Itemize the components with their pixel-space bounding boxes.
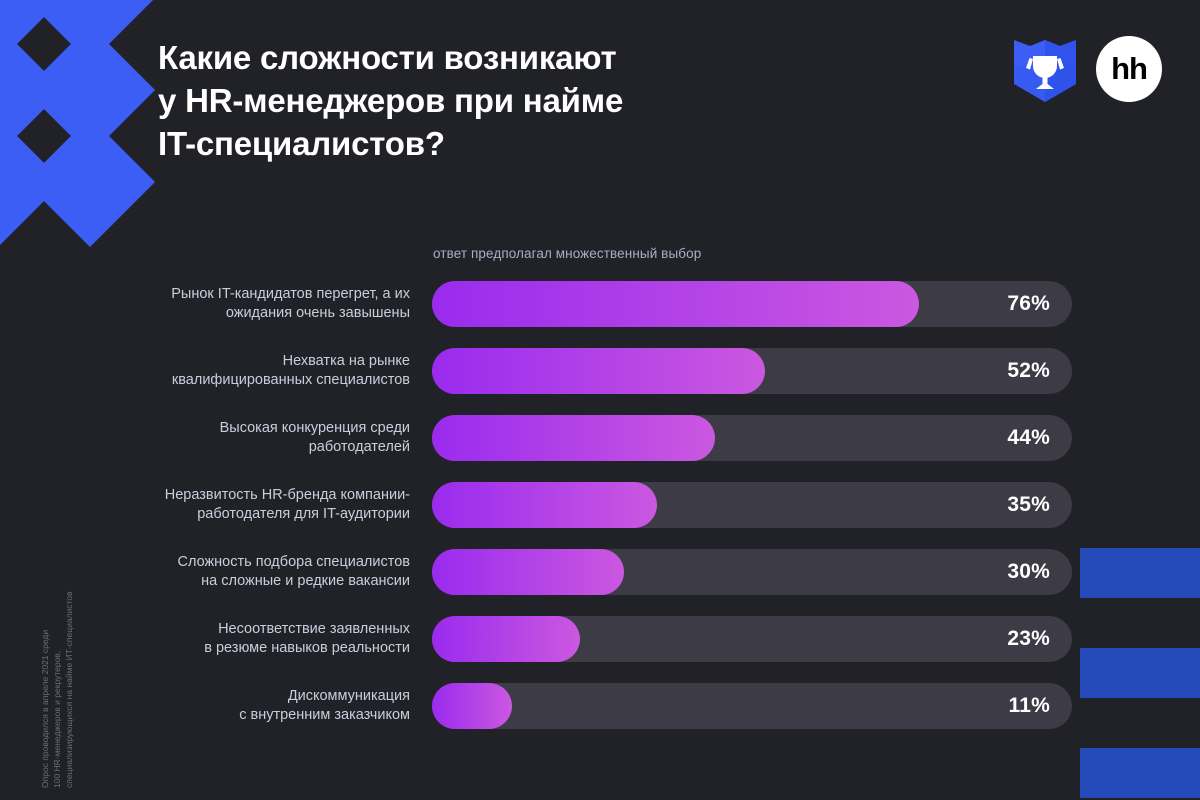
decorative-edge-block bbox=[1080, 748, 1200, 798]
trophy-shield-icon bbox=[1014, 36, 1076, 102]
bar-label: Неразвитость HR-бренда компании- работод… bbox=[110, 486, 410, 524]
chart-row: Рынок IT-кандидатов перегрет, а их ожида… bbox=[0, 281, 1200, 327]
bar-track: 11% bbox=[432, 683, 1072, 729]
page-title: Какие сложности возникают у HR-менеджеро… bbox=[158, 36, 818, 165]
bar-value-label: 44% bbox=[1007, 415, 1050, 461]
bar-fill bbox=[432, 683, 512, 729]
chart-subtitle: ответ предполагал множественный выбор bbox=[433, 246, 701, 261]
chart-row: Неразвитость HR-бренда компании- работод… bbox=[0, 482, 1200, 528]
bar-chart: Рынок IT-кандидатов перегрет, а их ожида… bbox=[0, 281, 1200, 750]
hh-logo-text: hh bbox=[1111, 53, 1147, 84]
bar-label: Рынок IT-кандидатов перегрет, а их ожида… bbox=[110, 285, 410, 323]
chart-row: Несоответствие заявленных в резюме навык… bbox=[0, 616, 1200, 662]
infographic-canvas: Какие сложности возникают у HR-менеджеро… bbox=[0, 0, 1200, 800]
chart-row: Сложность подбора специалистов на сложны… bbox=[0, 549, 1200, 595]
bar-track: 52% bbox=[432, 348, 1072, 394]
bar-label: Высокая конкуренция среди работодателей bbox=[110, 419, 410, 457]
chart-row: Нехватка на рынке квалифицированных спец… bbox=[0, 348, 1200, 394]
bar-fill bbox=[432, 482, 657, 528]
hh-logo: hh bbox=[1096, 36, 1162, 102]
bar-label: Сложность подбора специалистов на сложны… bbox=[110, 553, 410, 591]
bar-fill bbox=[432, 415, 715, 461]
chart-row: Высокая конкуренция среди работодателей4… bbox=[0, 415, 1200, 461]
bar-value-label: 52% bbox=[1007, 348, 1050, 394]
bar-fill bbox=[432, 348, 765, 394]
bar-value-label: 76% bbox=[1007, 281, 1050, 327]
bar-label: Дискоммуникация с внутренним заказчиком bbox=[110, 687, 410, 725]
bar-value-label: 30% bbox=[1007, 549, 1050, 595]
bar-track: 44% bbox=[432, 415, 1072, 461]
bar-track: 30% bbox=[432, 549, 1072, 595]
bar-fill bbox=[432, 281, 919, 327]
bar-track: 76% bbox=[432, 281, 1072, 327]
bar-value-label: 35% bbox=[1007, 482, 1050, 528]
bar-label: Нехватка на рынке квалифицированных спец… bbox=[110, 352, 410, 390]
bar-value-label: 11% bbox=[1009, 683, 1050, 729]
bar-fill bbox=[432, 549, 624, 595]
chart-row: Дискоммуникация с внутренним заказчиком1… bbox=[0, 683, 1200, 729]
bar-label: Несоответствие заявленных в резюме навык… bbox=[110, 620, 410, 658]
bar-fill bbox=[432, 616, 580, 662]
logo-group: hh bbox=[1014, 36, 1162, 102]
bar-value-label: 23% bbox=[1007, 616, 1050, 662]
bar-track: 35% bbox=[432, 482, 1072, 528]
bar-track: 23% bbox=[432, 616, 1072, 662]
